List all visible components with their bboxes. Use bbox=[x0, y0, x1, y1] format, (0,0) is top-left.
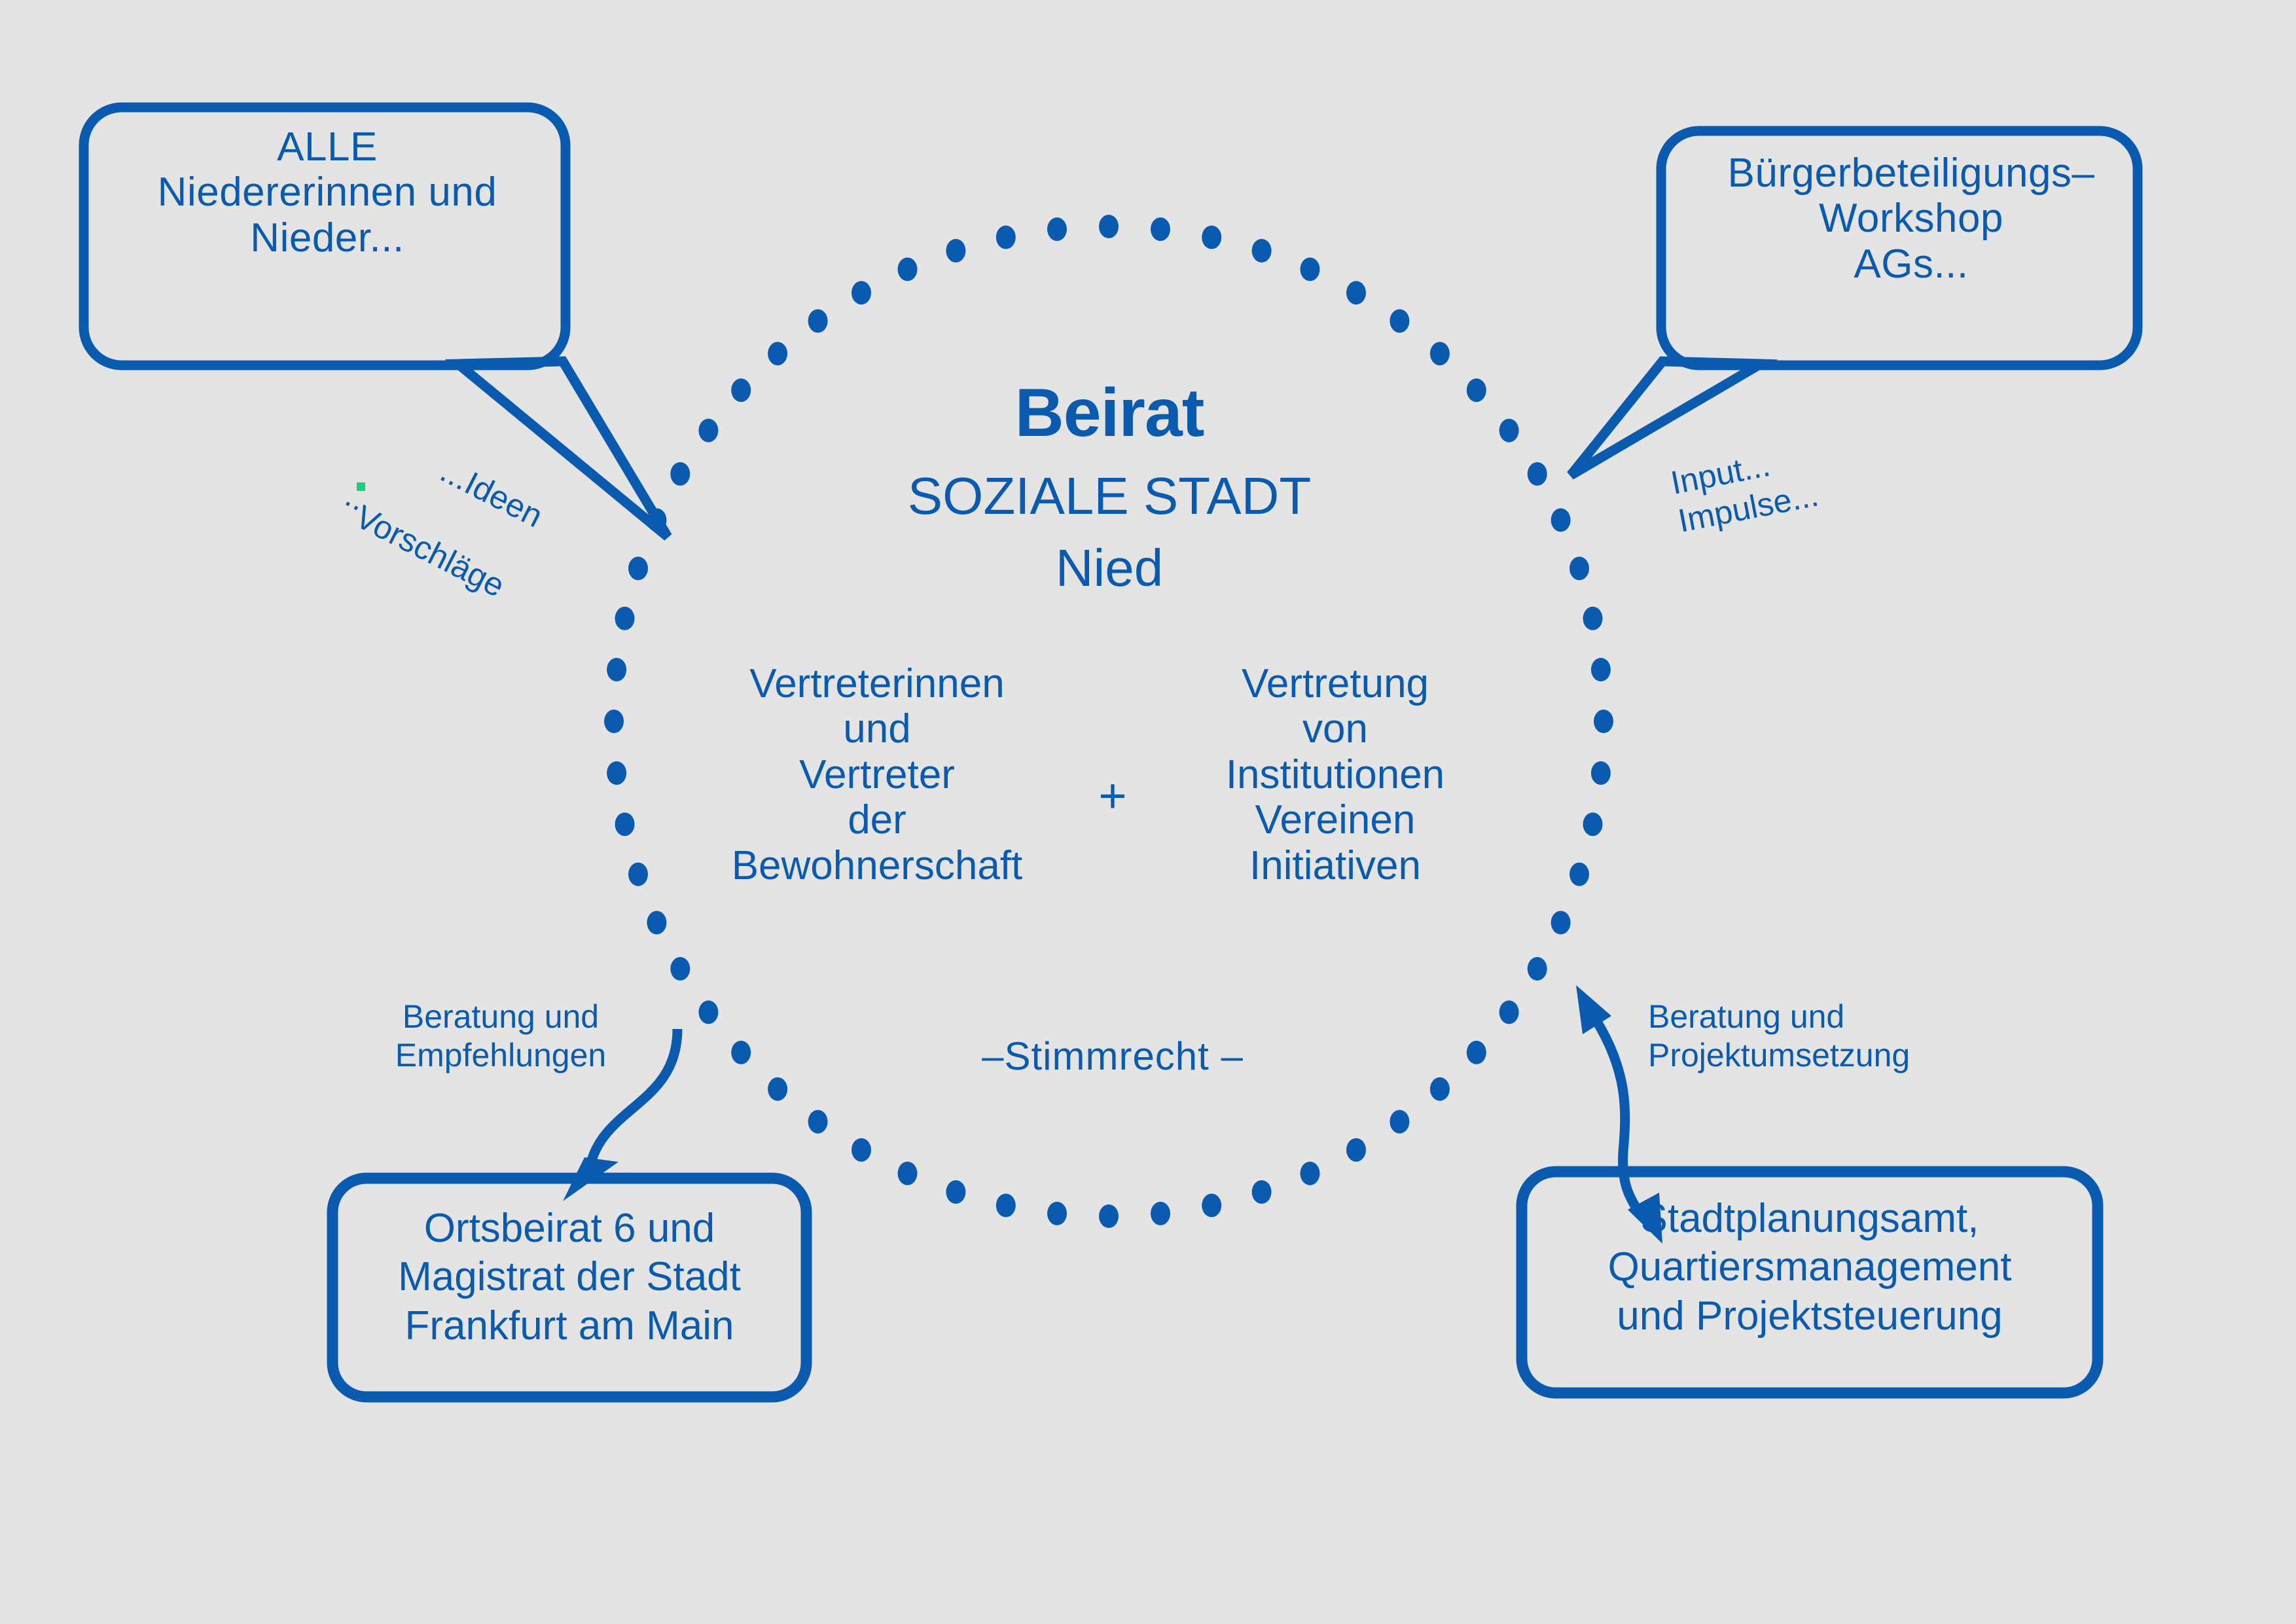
bubble-top-left-label: ALLE Niedererinnen und Nieder... bbox=[92, 124, 563, 261]
ring-dot bbox=[1499, 419, 1519, 442]
ring-dot bbox=[898, 1162, 918, 1185]
annotation-left-flow: Beratung und Empfehlungen bbox=[373, 998, 628, 1075]
ring-dot bbox=[698, 419, 718, 442]
arrow-right-curve bbox=[1590, 1011, 1641, 1216]
ring-dot bbox=[1591, 658, 1611, 681]
ring-dot bbox=[615, 812, 635, 836]
ring-dot bbox=[628, 863, 648, 886]
center-title-main: Beirat bbox=[779, 375, 1440, 451]
diagram-canvas: ALLE Niedererinnen und Nieder... Bürgerb… bbox=[0, 0, 2296, 1624]
ring-dot bbox=[1252, 239, 1272, 262]
ring-dot bbox=[1099, 1204, 1119, 1228]
ring-dot bbox=[898, 257, 918, 281]
ring-dot bbox=[1528, 957, 1547, 981]
ring-dot bbox=[1467, 378, 1486, 402]
box-bottom-right-label: Stadtplanungsamt, Quartiersmanagement un… bbox=[1525, 1195, 2094, 1341]
center-title-place: Nied bbox=[779, 539, 1440, 598]
ring-dot bbox=[604, 710, 624, 733]
ring-dot bbox=[628, 556, 648, 580]
ring-dot bbox=[670, 957, 690, 981]
ring-dot bbox=[1390, 309, 1409, 333]
ring-dot bbox=[996, 226, 1016, 249]
ring-dot bbox=[808, 1110, 828, 1134]
center-column-left: Vertreterinnen und Vertreter der Bewohne… bbox=[694, 661, 1060, 888]
ring-dot bbox=[1390, 1110, 1409, 1134]
ring-dot bbox=[852, 281, 871, 304]
ring-dot bbox=[996, 1194, 1016, 1218]
ring-dot bbox=[768, 1077, 787, 1101]
center-title-sub: SOZIALE STADT bbox=[779, 467, 1440, 526]
ring-dot bbox=[647, 911, 666, 935]
box-bottom-left-label: Ortsbeirat 6 und Magistrat der Stadt Fra… bbox=[334, 1204, 805, 1350]
ring-dot bbox=[607, 658, 626, 681]
ring-dot bbox=[1099, 215, 1119, 238]
ring-dot bbox=[946, 1180, 965, 1204]
ring-dot bbox=[852, 1138, 871, 1162]
ring-dot bbox=[1570, 556, 1589, 580]
ring-dot bbox=[731, 378, 751, 402]
ring-dot bbox=[1430, 1077, 1450, 1101]
ring-dot bbox=[946, 239, 965, 262]
ring-dot bbox=[615, 607, 635, 630]
ring-dot bbox=[1591, 761, 1611, 785]
ring-dot bbox=[1570, 863, 1589, 886]
ring-dot bbox=[1300, 1162, 1320, 1185]
arrow-right-head-up bbox=[1576, 985, 1611, 1034]
stimmrecht-note: –Stimmrecht – bbox=[910, 1034, 1316, 1078]
ring-dot bbox=[607, 761, 626, 785]
center-title-group: Beirat SOZIALE STADT Nied bbox=[779, 363, 1440, 609]
ring-dot bbox=[1430, 342, 1450, 365]
center-column-right: Vertretung von Institutionen Vereinen In… bbox=[1172, 661, 1499, 888]
ring-dot bbox=[698, 1000, 718, 1024]
ring-dot bbox=[731, 1041, 751, 1064]
annotation-right-flow: Beratung und Projektumsetzung bbox=[1648, 998, 1962, 1075]
ring-dot bbox=[1499, 1000, 1519, 1024]
ring-dot bbox=[1594, 710, 1613, 733]
ring-dot bbox=[1583, 607, 1603, 630]
ring-dot bbox=[1346, 1138, 1366, 1162]
ring-dot bbox=[1551, 509, 1571, 532]
ring-dot bbox=[808, 309, 828, 333]
ring-dot bbox=[1151, 1202, 1170, 1225]
ring-dot bbox=[1252, 1180, 1272, 1204]
ring-dot bbox=[1551, 911, 1571, 935]
green-marker-dot bbox=[357, 482, 365, 491]
ring-dot bbox=[1047, 217, 1067, 241]
ring-dot bbox=[670, 462, 690, 486]
ring-dot bbox=[1300, 257, 1320, 281]
ring-dot bbox=[1151, 217, 1170, 241]
plus-operator: + bbox=[1073, 769, 1152, 823]
bubble-top-right-label: Bürgerbeteiligungs– Workshop AGs... bbox=[1682, 151, 2140, 287]
ring-dot bbox=[1467, 1041, 1486, 1064]
ring-dot bbox=[1346, 281, 1366, 304]
ring-dot bbox=[1528, 462, 1547, 486]
ring-dot bbox=[1583, 812, 1603, 836]
ring-dot bbox=[647, 509, 666, 532]
ring-dot bbox=[768, 342, 787, 365]
ring-dot bbox=[1202, 226, 1221, 249]
ring-dot bbox=[1202, 1194, 1221, 1218]
ring-dot bbox=[1047, 1202, 1067, 1225]
